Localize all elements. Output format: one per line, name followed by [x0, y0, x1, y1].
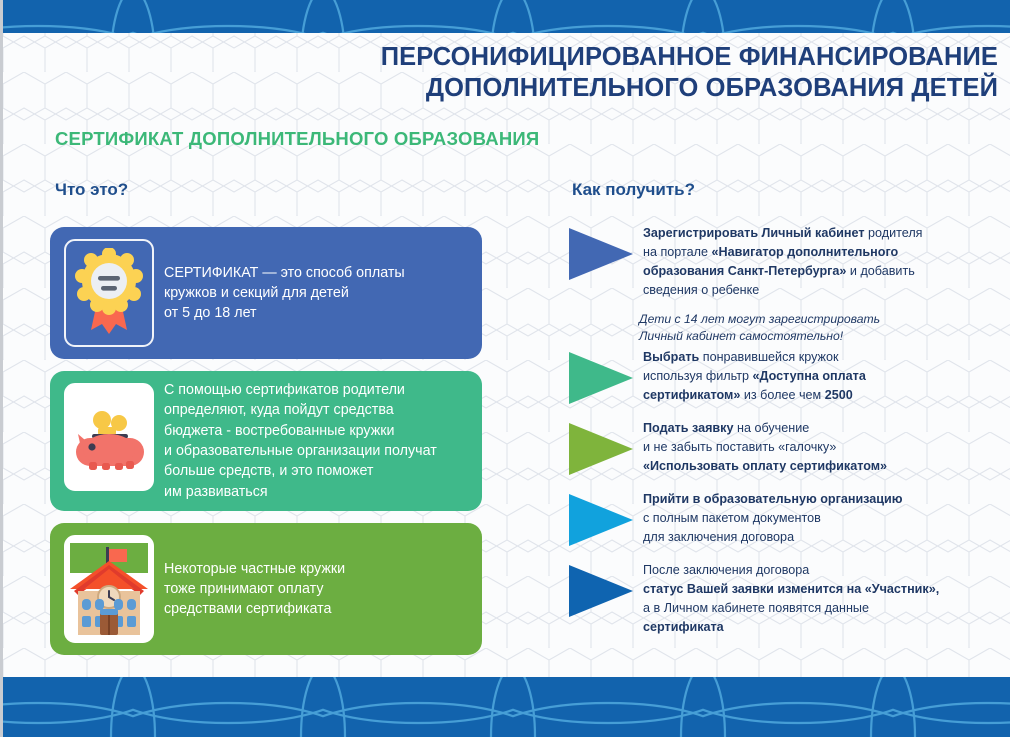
step-note: Дети с 14 лет могут зарегистрировать Лич… — [639, 311, 1010, 346]
info-card-certificate: СЕРТИФИКАТ — это способ оплаты кружков и… — [50, 227, 482, 359]
step-arrow-icon — [567, 563, 635, 619]
bottom-banner — [3, 677, 1010, 737]
card-line: тоже принимают оплату — [164, 579, 345, 599]
card-line: кружков и секций для детей — [164, 283, 405, 303]
info-card-private-clubs-text: Некоторые частные кружки тоже принимают … — [164, 559, 359, 620]
page-subtitle: СЕРТИФИКАТ ДОПОЛНИТЕЛЬНОГО ОБРАЗОВАНИЯ — [55, 128, 539, 150]
step-plain: понравившейся кружок — [699, 350, 838, 364]
banner-wave-pattern — [3, 677, 1010, 737]
step-text: Зарегистрировать Личный кабинет родителя… — [643, 222, 923, 300]
info-card-list: СЕРТИФИКАТ — это способ оплаты кружков и… — [50, 227, 482, 667]
step-plain: После заключения договора — [643, 563, 809, 577]
step-bold: сертификатом» — [643, 388, 740, 402]
step-plain: и не забыть поставить «галочку» — [643, 440, 836, 454]
step-note-line: Дети с 14 лет могут зарегистрировать — [639, 311, 1010, 329]
info-card-budget-text: С помощью сертификатов родители определя… — [164, 380, 451, 502]
school-building-icon — [64, 535, 154, 643]
step-item-visit: Прийти в образовательную организацию с п… — [567, 488, 1010, 548]
step-item-apply: Подать заявку на обучение и не забыть по… — [567, 417, 1010, 477]
banner-wave-pattern — [3, 0, 1010, 33]
step-arrow-icon — [567, 421, 635, 477]
step-bold: Зарегистрировать Личный кабинет — [643, 226, 865, 240]
step-plain: родителя — [865, 226, 923, 240]
step-bold: сертификата — [643, 620, 724, 634]
step-plain: сведения о ребенке — [643, 283, 759, 297]
infographic-poster: ПЕРСОНИФИЦИРОВАННОЕ ФИНАНСИРОВАНИЕ ДОПОЛ… — [0, 0, 1010, 737]
card-line: Некоторые частные кружки — [164, 559, 345, 579]
left-column-heading: Что это? — [55, 180, 128, 200]
step-bold: «Доступна оплата — [753, 369, 866, 383]
card-line: определяют, куда пойдут средства — [164, 400, 437, 420]
card-line: средствами сертификата — [164, 599, 345, 619]
info-card-certificate-text: СЕРТИФИКАТ — это способ оплаты кружков и… — [164, 263, 419, 324]
page-title-line-1: ПЕРСОНИФИЦИРОВАННОЕ ФИНАНСИРОВАНИЕ — [358, 42, 998, 73]
page-title: ПЕРСОНИФИЦИРОВАННОЕ ФИНАНСИРОВАНИЕ ДОПОЛ… — [358, 42, 998, 104]
card-line: больше средств, и это поможет — [164, 461, 437, 481]
step-bold: Прийти в образовательную организацию — [643, 492, 903, 506]
award-medal-icon — [64, 239, 154, 347]
step-arrow-icon — [567, 350, 635, 406]
step-text: Прийти в образовательную организацию с п… — [643, 488, 903, 547]
step-text: Выбрать понравившейся кружок используя ф… — [643, 346, 866, 405]
step-arrow-icon — [567, 492, 635, 548]
step-item-register: Зарегистрировать Личный кабинет родителя… — [567, 222, 1010, 346]
card-line: С помощью сертификатов родители — [164, 380, 437, 400]
step-bold: Подать заявку — [643, 421, 733, 435]
step-bold: статус Вашей заявки изменится на «Участн… — [643, 582, 939, 596]
step-note-line: Личный кабинет самостоятельно! — [639, 328, 1010, 346]
step-bold: «Использовать оплату сертификатом» — [643, 459, 887, 473]
piggy-bank-icon — [64, 383, 154, 491]
step-plain: и добавить — [846, 264, 914, 278]
card-line: бюджета - востребованные кружки — [164, 421, 437, 441]
card-line: и образовательные организации получат — [164, 441, 437, 461]
step-plain: из более чем — [740, 388, 824, 402]
steps-list: Зарегистрировать Личный кабинет родителя… — [567, 222, 1010, 648]
page-title-line-2: ДОПОЛНИТЕЛЬНОГО ОБРАЗОВАНИЯ ДЕТЕЙ — [358, 73, 998, 104]
step-bold: Выбрать — [643, 350, 699, 364]
step-plain: на обучение — [733, 421, 809, 435]
step-plain: с полным пакетом документов — [643, 511, 821, 525]
card-line: от 5 до 18 лет — [164, 303, 405, 323]
card-line: СЕРТИФИКАТ — это способ оплаты — [164, 263, 405, 283]
step-plain: для заключения договора — [643, 530, 794, 544]
step-bold: образования Санкт-Петербурга» — [643, 264, 846, 278]
step-arrow-icon — [567, 226, 635, 282]
step-bold: «Навигатор дополнительного — [712, 245, 899, 259]
step-plain: а в Личном кабинете появятся данные — [643, 601, 869, 615]
info-card-private-clubs: Некоторые частные кружки тоже принимают … — [50, 523, 482, 655]
step-item-choose: Выбрать понравившейся кружок используя ф… — [567, 346, 1010, 406]
step-plain: на портале — [643, 245, 712, 259]
info-card-budget: С помощью сертификатов родители определя… — [50, 371, 482, 511]
step-count: 2500 — [825, 388, 853, 402]
step-plain: используя фильтр — [643, 369, 753, 383]
step-text: Подать заявку на обучение и не забыть по… — [643, 417, 887, 476]
top-banner — [3, 0, 1010, 33]
step-item-status: После заключения договора статус Вашей з… — [567, 559, 1010, 637]
card-line: им развиваться — [164, 482, 437, 502]
step-text: После заключения договора статус Вашей з… — [643, 559, 939, 637]
right-column-heading: Как получить? — [572, 180, 695, 200]
